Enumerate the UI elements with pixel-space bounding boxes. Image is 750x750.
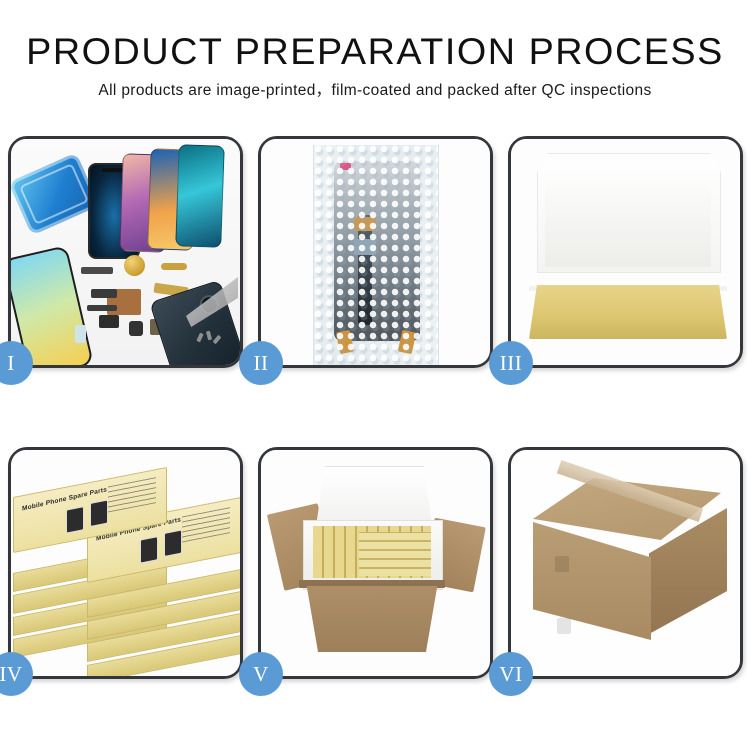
step-badge-2: II <box>239 341 283 385</box>
carton-front-icon <box>533 522 651 640</box>
process-grid: I II <box>8 136 742 679</box>
spare-part-icon <box>129 321 143 336</box>
spare-part-icon <box>81 267 113 274</box>
photo-bubble-wrap <box>261 139 490 365</box>
spare-part-icon <box>87 305 117 311</box>
spare-part-icon <box>91 289 117 298</box>
phone-display-teal-icon <box>175 144 225 248</box>
photo-inner-box <box>511 139 740 365</box>
photo-boxes-stacked: Mobile Phone Spare Parts Mobile Phone Sp… <box>11 450 240 676</box>
bubble-texture-icon <box>314 145 438 365</box>
spare-part-icon <box>99 315 119 328</box>
panel-inner-box[interactable]: III <box>508 136 743 368</box>
box-stack-icon: Mobile Phone Spare Parts Mobile Phone Sp… <box>11 472 240 668</box>
page-title: PRODUCT PREPARATION PROCESS <box>0 30 750 74</box>
panel-bubble-wrap[interactable]: II <box>258 136 493 368</box>
yellow-box-tray-icon <box>529 285 727 339</box>
adhesive-sticker-icon <box>11 152 100 235</box>
page-subtitle: All products are image-printed，film-coat… <box>0 80 750 102</box>
product-preparation-infographic: PRODUCT PREPARATION PROCESS All products… <box>0 0 750 750</box>
photo-products <box>11 139 240 365</box>
foam-sheet-icon <box>545 185 711 267</box>
panel-sealed-carton[interactable]: VI <box>508 447 743 679</box>
carton-body-icon <box>301 586 443 652</box>
yellow-boxes-row-icon <box>359 532 431 576</box>
panel-boxes-stacked[interactable]: Mobile Phone Spare Parts Mobile Phone Sp… <box>8 447 243 679</box>
panel-products[interactable]: I <box>8 136 243 368</box>
step-badge-5: V <box>239 652 283 696</box>
header: PRODUCT PREPARATION PROCESS All products… <box>0 0 750 102</box>
carton-handle-notch-icon <box>555 556 569 572</box>
screws-icon <box>198 331 224 347</box>
bubble-bag-icon <box>313 145 439 365</box>
panel-carton-packing[interactable]: V <box>258 447 493 679</box>
photo-sealed-carton <box>511 450 740 676</box>
carton-handle-notch-icon <box>557 618 571 634</box>
spare-part-icon <box>75 325 86 343</box>
gold-part-icon <box>124 255 145 276</box>
step-badge-3: III <box>489 341 533 385</box>
spare-part-icon <box>161 263 187 270</box>
photo-carton-packing <box>261 450 490 676</box>
step-badge-6: VI <box>489 652 533 696</box>
